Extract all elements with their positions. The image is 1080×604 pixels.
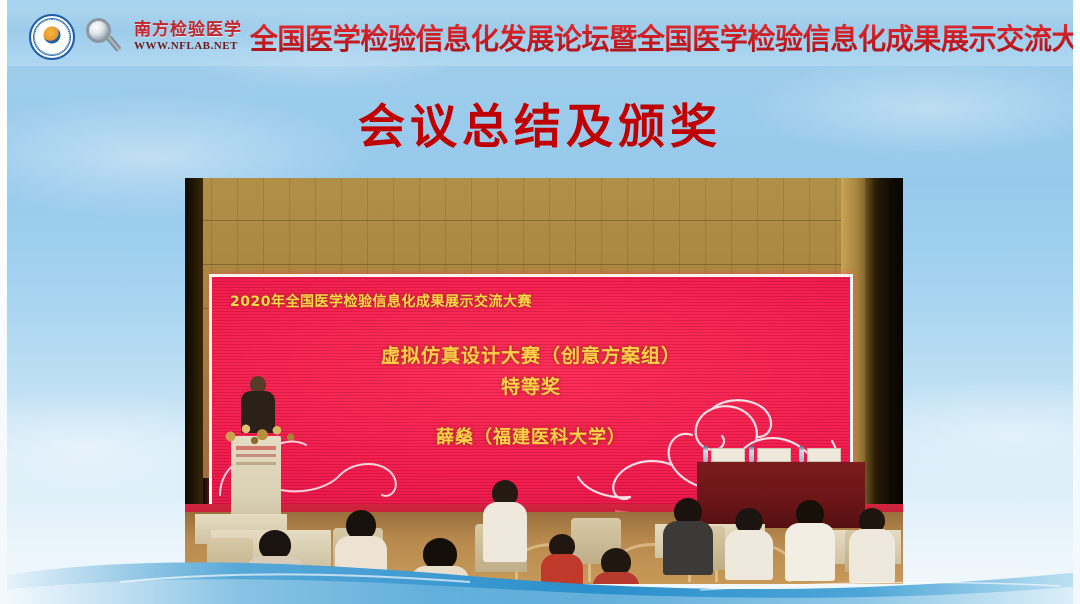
water-bottle: [749, 446, 754, 462]
presentation-slide: 南方检验医学 WWW.NFLAB.NET 全国医学检验信息化发展论坛暨全国医学检…: [0, 0, 1080, 604]
bottom-wave-decoration: [0, 546, 1080, 604]
led-winner-name: 薛燊（福建医科大学）: [212, 423, 850, 449]
podium-print: [236, 446, 276, 486]
seal-core: [44, 27, 61, 44]
brand-name: 南方检验医学: [134, 22, 242, 39]
led-award-category: 虚拟仿真设计大赛（创意方案组）: [212, 341, 850, 368]
magnifier-icon: [84, 17, 124, 57]
slide-left-edge: [0, 0, 7, 604]
water-bottle: [703, 446, 708, 462]
magnifier-handle: [106, 35, 122, 52]
wall-right-dark-column: [865, 178, 903, 518]
podium-flowers: [215, 416, 301, 450]
brand-lockup: 南方检验医学 WWW.NFLAB.NET: [134, 22, 242, 52]
conference-photo: 2020年全国医学检验信息化成果展示交流大赛 虚拟仿真设计大赛（创意方案组） 特…: [185, 178, 903, 584]
water-bottle: [799, 446, 804, 462]
association-seal-icon: [29, 14, 75, 60]
slide-right-edge: [1073, 0, 1080, 604]
header-banner: 南方检验医学 WWW.NFLAB.NET 全国医学检验信息化发展论坛暨全国医学检…: [7, 8, 1073, 66]
brand-url: WWW.NFLAB.NET: [134, 41, 242, 52]
led-award-level: 特等奖: [212, 372, 850, 399]
header-logo-group: 南方检验医学 WWW.NFLAB.NET: [7, 14, 242, 60]
page-title: 会议总结及颁奖: [0, 88, 1080, 157]
led-body-text: 虚拟仿真设计大赛（创意方案组） 特等奖 薛燊（福建医科大学）: [212, 341, 850, 449]
wall-left-dark-column: [185, 178, 203, 508]
wall-seam: [185, 220, 903, 221]
wall-seam: [185, 264, 903, 265]
table-name-card: [711, 448, 745, 462]
led-banner-text: 2020年全国医学检验信息化成果展示交流大赛: [212, 291, 850, 311]
table-name-card: [807, 448, 841, 462]
header-title: 全国医学检验信息化发展论坛暨全国医学检验信息化成果展示交流大赛: [242, 16, 1080, 58]
head-table: [697, 462, 865, 528]
table-name-card: [757, 448, 791, 462]
